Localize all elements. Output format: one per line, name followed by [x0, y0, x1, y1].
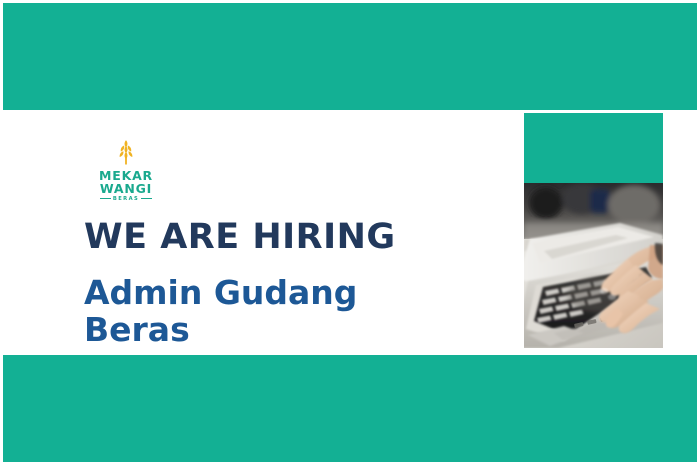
hiring-poster: MEKAR WANGI BERAS WE ARE HIRING Admin Gu… — [0, 0, 700, 465]
top-teal-band — [3, 3, 697, 110]
logo-tagline: BERAS — [90, 197, 162, 202]
laptop-typing-photo — [524, 183, 663, 348]
rice-stalk-icon — [111, 138, 141, 168]
logo-name-line-2: WANGI — [90, 182, 162, 195]
logo-wordmark: MEKAR WANGI BERAS — [90, 169, 162, 202]
job-title: Admin Gudang Beras — [84, 275, 404, 349]
logo-name-line-1: MEKAR — [90, 169, 162, 182]
headline: WE ARE HIRING — [84, 220, 504, 255]
logo-tagline-text: BERAS — [113, 196, 139, 202]
logo-rule-left — [100, 198, 111, 199]
laptop-typing-illustration — [524, 183, 663, 348]
photo-panel — [524, 113, 663, 348]
bottom-teal-band — [3, 355, 697, 462]
panel-teal-block — [524, 113, 663, 183]
poster-content: MEKAR WANGI BERAS WE ARE HIRING Admin Gu… — [84, 138, 504, 349]
logo-rule-right — [141, 198, 152, 199]
company-logo: MEKAR WANGI BERAS — [90, 138, 162, 202]
